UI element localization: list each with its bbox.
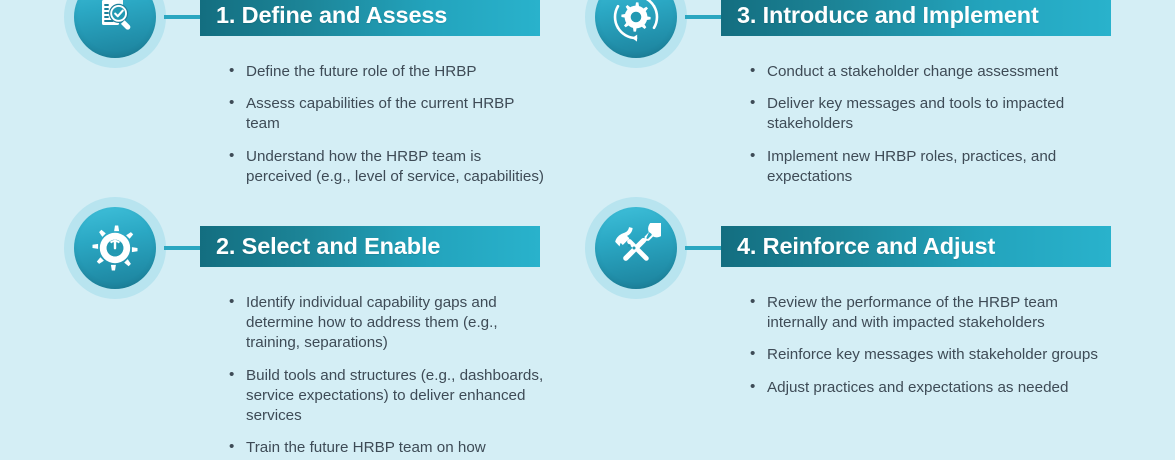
step-title-bar-4: 4. Reinforce and Adjust — [721, 226, 1111, 267]
list-item: Review the performance of the HRBP team … — [749, 293, 1111, 333]
step-badge-2 — [64, 197, 166, 299]
step-title-2: 2. Select and Enable — [200, 233, 440, 260]
badge-inner-3 — [595, 0, 677, 58]
step-bullets-1: Define the future role of the HRBP Asses… — [228, 62, 548, 199]
badge-inner-2 — [74, 207, 156, 289]
step-badge-4 — [585, 197, 687, 299]
badge-inner-4 — [595, 207, 677, 289]
list-item: Identify individual capability gaps and … — [228, 293, 548, 354]
step-title-bar-1: 1. Define and Assess — [200, 0, 540, 36]
step-title-bar-2: 2. Select and Enable — [200, 226, 540, 267]
step-title-4: 4. Reinforce and Adjust — [721, 233, 995, 260]
hammer-wrench-icon — [611, 223, 661, 273]
badge-inner-1 — [74, 0, 156, 58]
list-item: Conduct a stakeholder change assessment — [749, 62, 1111, 82]
infographic-canvas: 1. Define and Assess Define the future r… — [0, 0, 1175, 460]
step-badge-1 — [64, 0, 166, 68]
step-title-3: 3. Introduce and Implement — [721, 2, 1039, 29]
list-item: Implement new HRBP roles, practices, and… — [749, 147, 1111, 187]
step-title-bar-3: 3. Introduce and Implement — [721, 0, 1111, 36]
step-bullets-4: Review the performance of the HRBP team … — [749, 293, 1111, 410]
gear-power-icon — [90, 223, 140, 273]
list-item: Understand how the HRBP team is perceive… — [228, 147, 548, 187]
step-badge-3 — [585, 0, 687, 68]
list-item: Train the future HRBP team on how — [228, 438, 548, 458]
list-item: Assess capabilities of the current HRBP … — [228, 94, 548, 134]
list-item: Build tools and structures (e.g., dashbo… — [228, 366, 548, 427]
list-item: Adjust practices and expectations as nee… — [749, 378, 1111, 398]
step-bullets-3: Conduct a stakeholder change assessment … — [749, 62, 1111, 199]
step-bullets-2: Identify individual capability gaps and … — [228, 293, 548, 460]
step-title-1: 1. Define and Assess — [200, 2, 447, 29]
document-magnifier-check-icon — [91, 0, 139, 41]
gear-refresh-cycle-icon — [611, 0, 661, 42]
list-item: Deliver key messages and tools to impact… — [749, 94, 1111, 134]
list-item: Reinforce key messages with stakeholder … — [749, 345, 1111, 365]
list-item: Define the future role of the HRBP — [228, 62, 548, 82]
